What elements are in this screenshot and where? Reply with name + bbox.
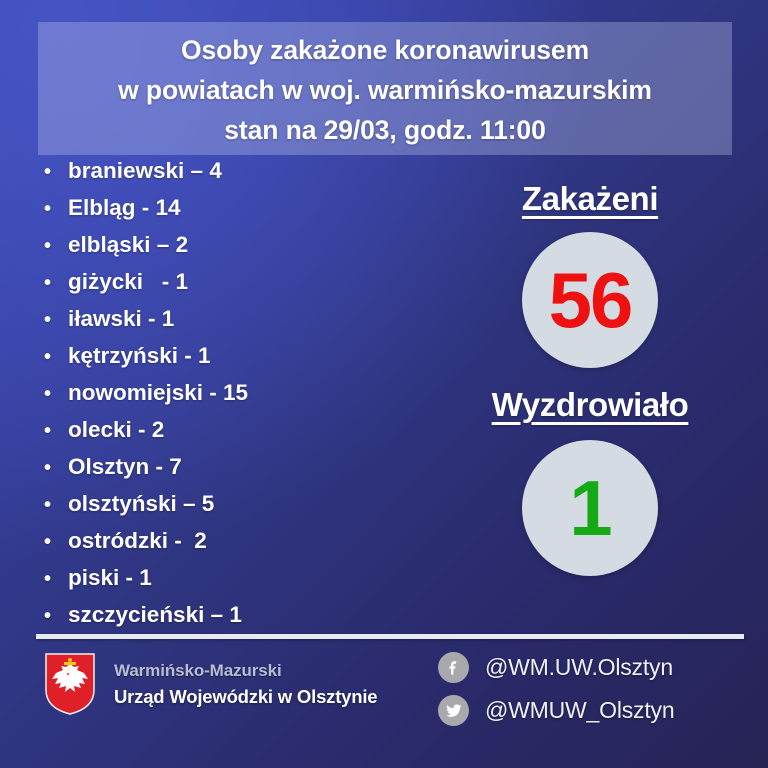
list-item: Olsztyn - 7 bbox=[44, 454, 444, 491]
county-label: szczycieński – 1 bbox=[68, 602, 242, 628]
county-label: giżycki - 1 bbox=[68, 269, 188, 295]
infected-count-value: 56 bbox=[549, 261, 632, 339]
county-label: iławski - 1 bbox=[68, 306, 174, 332]
county-label: piski - 1 bbox=[68, 565, 152, 591]
footer-divider bbox=[36, 634, 744, 639]
brand-line-2: Urząd Wojewódzki w Olsztynie bbox=[114, 686, 377, 708]
county-label: ostródzki - 2 bbox=[68, 528, 207, 554]
bullet-icon bbox=[44, 495, 68, 515]
county-label: nowomiejski - 15 bbox=[68, 380, 248, 406]
bullet-icon bbox=[44, 532, 68, 552]
header-title-line-2: w powiatach w woj. warmińsko-mazurskim bbox=[118, 70, 652, 110]
brand-block: Warmińsko-Mazurski Urząd Wojewódzki w Ol… bbox=[44, 652, 377, 716]
bullet-icon bbox=[44, 606, 68, 626]
list-item: giżycki - 1 bbox=[44, 269, 444, 306]
bullet-icon bbox=[44, 384, 68, 404]
county-label: braniewski – 4 bbox=[68, 158, 222, 184]
twitter-icon[interactable] bbox=[438, 695, 469, 726]
list-item: elbląski – 2 bbox=[44, 232, 444, 269]
recovered-label: Wyzdrowiało bbox=[492, 386, 689, 424]
header-title-line-1: Osoby zakażone koronawirusem bbox=[181, 30, 589, 70]
bullet-icon bbox=[44, 236, 68, 256]
county-label: Olsztyn - 7 bbox=[68, 454, 182, 480]
list-item: nowomiejski - 15 bbox=[44, 380, 444, 417]
county-label: Elbląg - 14 bbox=[68, 195, 181, 221]
county-label: kętrzyński - 1 bbox=[68, 343, 211, 369]
list-item: iławski - 1 bbox=[44, 306, 444, 343]
county-label: olsztyński – 5 bbox=[68, 491, 214, 517]
bullet-icon bbox=[44, 162, 68, 182]
twitter-link[interactable]: @WMUW_Olsztyn bbox=[438, 695, 674, 726]
recovered-count-value: 1 bbox=[569, 469, 610, 547]
list-item: braniewski – 4 bbox=[44, 158, 444, 195]
covid-infographic: Osoby zakażone koronawirusem w powiatach… bbox=[0, 0, 768, 768]
infected-label: Zakażeni bbox=[522, 180, 658, 218]
list-item: olsztyński – 5 bbox=[44, 491, 444, 528]
recovered-count-circle: 1 bbox=[522, 440, 658, 576]
twitter-handle[interactable]: @WMUW_Olsztyn bbox=[485, 697, 674, 724]
facebook-icon[interactable] bbox=[438, 652, 469, 683]
bullet-icon bbox=[44, 347, 68, 367]
county-label: elbląski – 2 bbox=[68, 232, 188, 258]
brand-text: Warmińsko-Mazurski Urząd Wojewódzki w Ol… bbox=[114, 661, 377, 708]
facebook-link[interactable]: @WM.UW.Olsztyn bbox=[438, 652, 674, 683]
list-item: Elbląg - 14 bbox=[44, 195, 444, 232]
county-label: olecki - 2 bbox=[68, 417, 164, 443]
bullet-icon bbox=[44, 458, 68, 478]
bullet-icon bbox=[44, 199, 68, 219]
county-case-list: braniewski – 4 Elbląg - 14 elbląski – 2 … bbox=[44, 158, 444, 639]
bullet-icon bbox=[44, 273, 68, 293]
header-banner: Osoby zakażone koronawirusem w powiatach… bbox=[38, 22, 732, 155]
bullet-icon bbox=[44, 421, 68, 441]
social-links: @WM.UW.Olsztyn @WMUW_Olsztyn bbox=[438, 652, 674, 726]
list-item: piski - 1 bbox=[44, 565, 444, 602]
list-item: olecki - 2 bbox=[44, 417, 444, 454]
bullet-icon bbox=[44, 569, 68, 589]
brand-line-1: Warmińsko-Mazurski bbox=[114, 661, 377, 681]
polish-coat-of-arms-icon bbox=[44, 652, 96, 716]
facebook-handle[interactable]: @WM.UW.Olsztyn bbox=[485, 654, 673, 681]
footer: Warmińsko-Mazurski Urząd Wojewódzki w Ol… bbox=[0, 648, 768, 758]
infected-count-circle: 56 bbox=[522, 232, 658, 368]
statistics-panel: Zakażeni 56 Wyzdrowiało 1 bbox=[430, 180, 750, 576]
bullet-icon bbox=[44, 310, 68, 330]
list-item: kętrzyński - 1 bbox=[44, 343, 444, 380]
header-title-line-3: stan na 29/03, godz. 11:00 bbox=[224, 110, 545, 150]
list-item: ostródzki - 2 bbox=[44, 528, 444, 565]
